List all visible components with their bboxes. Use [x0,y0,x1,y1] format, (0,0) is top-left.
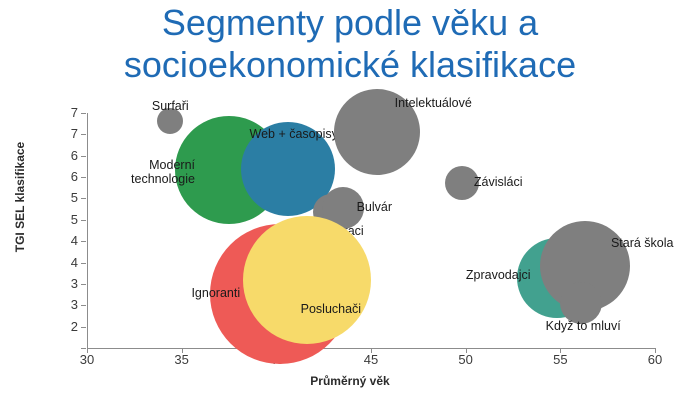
bubble-chart-slide: Segmenty podle věku a socioekonomické kl… [0,0,700,406]
y-tick-label: 4 [52,234,78,247]
y-tick [81,198,86,199]
y-tick-label: 6 [52,149,78,162]
y-tick [81,284,86,285]
bubble-label: Moderní technologie [131,158,195,187]
y-tick [81,113,86,114]
bubble-label: Surfaři [152,99,189,113]
y-axis-line [87,113,88,349]
y-axis-title: TGI SEL klasifikace [13,117,27,277]
x-tick-label: 60 [635,352,675,367]
chart-title: Segmenty podle věku a socioekonomické kl… [0,2,700,87]
y-tick [81,134,86,135]
y-tick [81,156,86,157]
y-tick [81,241,86,242]
x-tick-label: 45 [351,352,391,367]
y-tick-label: 3 [52,277,78,290]
y-tick [81,327,86,328]
y-tick-label: 2 [52,320,78,333]
bubble[interactable] [243,216,371,344]
y-tick-label: 6 [52,170,78,183]
bubble-label: Intelektuálové [395,96,472,110]
chart-title-line-1: Segmenty podle věku a [0,2,700,44]
x-tick-label: 30 [67,352,107,367]
x-tick-label: 55 [540,352,580,367]
y-tick-label: 7 [52,106,78,119]
y-tick-label: 5 [52,191,78,204]
y-tick-label: 4 [52,256,78,269]
bubble[interactable] [560,282,602,324]
bubble-label: Zpravodajci [466,268,531,282]
y-tick-label: 7 [52,127,78,140]
chart-title-line-2: socioekonomické klasifikace [0,44,700,86]
x-tick-label: 50 [446,352,486,367]
x-tick-label: 35 [162,352,202,367]
x-axis-title: Průměrný věk [0,374,700,388]
y-tick-label: 3 [52,298,78,311]
bubble-label: Posluchači [301,302,361,316]
bubble-label: Když to mluví [546,319,621,333]
y-tick [81,220,86,221]
y-tick [81,177,86,178]
y-tick [81,263,86,264]
bubble-label: Web + časopisy [250,127,338,141]
bubble-label: Bulvár [357,200,392,214]
bubble-label: Ignoranti [191,286,240,300]
bubble-label: Závisláci [474,175,523,189]
bubble-label: Stará škola [611,236,674,250]
y-tick [81,305,86,306]
y-tick [81,348,86,349]
y-tick-label: 5 [52,213,78,226]
